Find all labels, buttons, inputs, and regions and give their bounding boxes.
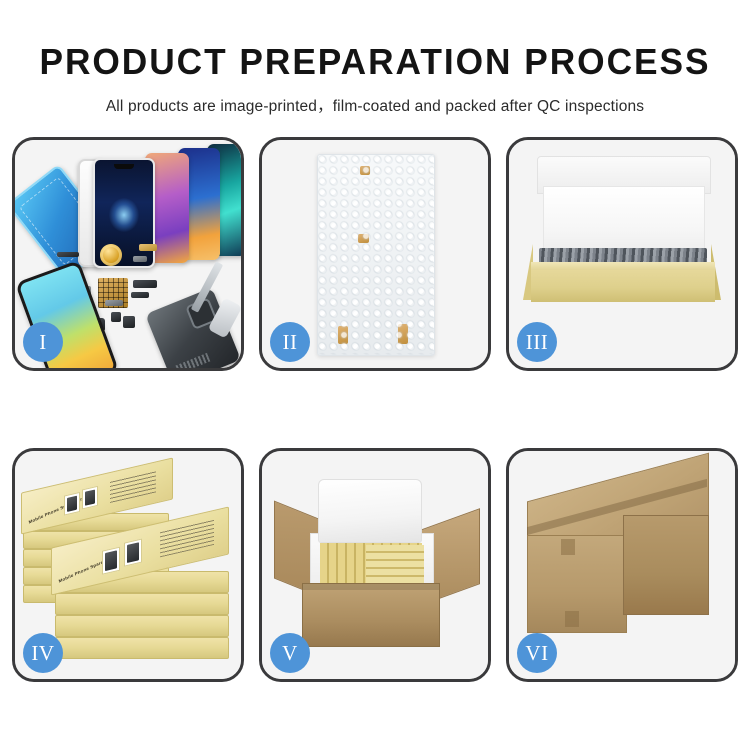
step-badge-4: IV — [23, 633, 63, 673]
packed-yellow-boxes — [366, 545, 424, 583]
stacked-box — [55, 593, 229, 615]
process-step-grid: I II — [12, 137, 738, 682]
step-badge-1: I — [23, 322, 63, 362]
step-badge-2: II — [270, 322, 310, 362]
adhesive-tape — [398, 324, 408, 344]
step-badge-3: III — [517, 322, 557, 362]
process-step-panel-3: III — [506, 137, 738, 371]
adhesive-tape — [338, 326, 348, 344]
box-artwork-phone — [82, 486, 98, 510]
kraft-box-front — [531, 270, 715, 302]
header: PRODUCT PREPARATION PROCESS All products… — [0, 0, 750, 116]
process-step-panel-5: V — [259, 448, 491, 682]
spare-part — [111, 312, 121, 322]
bubble-wrap-bag — [317, 154, 435, 356]
process-step-panel-4: Mobile Phone Spare Parts Mobile Phone Sp… — [12, 448, 244, 682]
spare-part — [57, 252, 79, 257]
spare-part — [123, 316, 135, 328]
box-spec-text — [110, 470, 156, 503]
stacked-box — [55, 637, 229, 659]
spare-part — [105, 300, 123, 306]
carton-body — [302, 583, 440, 647]
stacked-box — [55, 615, 229, 637]
spare-part — [139, 244, 157, 251]
carton-tape-tab — [565, 611, 579, 627]
spare-part — [133, 280, 157, 288]
spare-part — [131, 292, 149, 298]
adhesive-tape — [358, 234, 369, 243]
step-badge-6: VI — [517, 633, 557, 673]
box-spec-text — [160, 519, 214, 557]
page-title: PRODUCT PREPARATION PROCESS — [8, 0, 743, 80]
carton-tape-tab — [561, 539, 575, 555]
box-artwork-phone — [64, 492, 80, 516]
charging-coil-part — [100, 244, 122, 266]
product-preparation-process-infographic: PRODUCT PREPARATION PROCESS All products… — [0, 0, 750, 750]
foam-box-lid — [318, 479, 422, 543]
spare-part — [133, 256, 147, 262]
page-subtitle: All products are image-printed，film-coat… — [0, 80, 750, 116]
box-artwork-phone — [124, 539, 142, 567]
process-step-panel-2: II — [259, 137, 491, 371]
carton-side-face — [623, 515, 709, 615]
step-badge-5: V — [270, 633, 310, 673]
box-artwork-phone — [102, 547, 120, 575]
process-step-panel-1: I — [12, 137, 244, 371]
adhesive-tape — [360, 166, 370, 175]
process-step-panel-6: VI — [506, 448, 738, 682]
